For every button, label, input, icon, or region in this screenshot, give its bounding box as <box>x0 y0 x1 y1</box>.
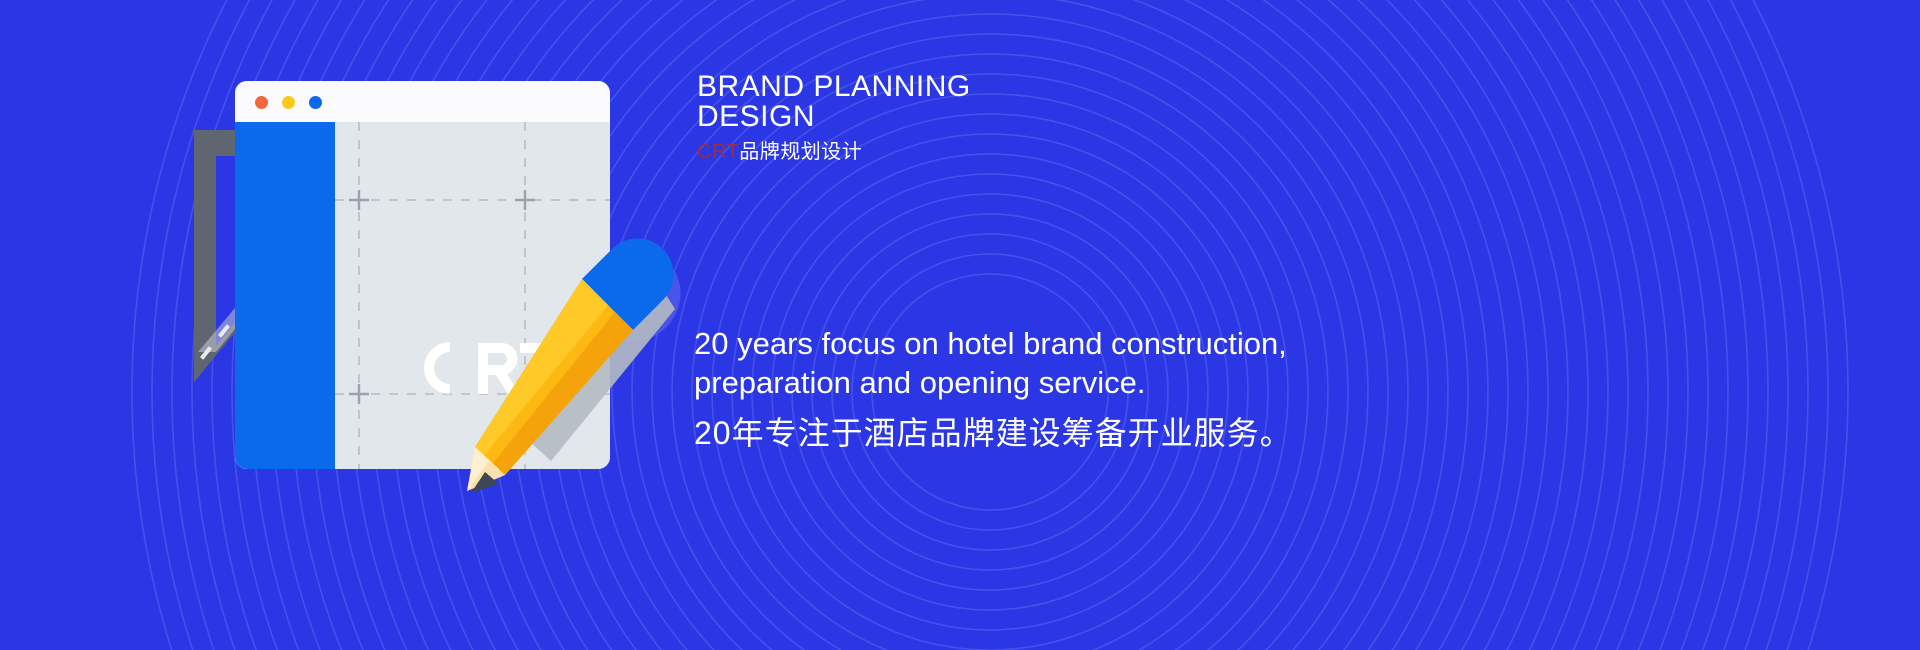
hero-illustration <box>190 60 690 530</box>
maximize-dot-icon <box>309 96 322 109</box>
tagline-block: 20 years focus on hotel brand constructi… <box>694 325 1634 453</box>
tagline-chinese: 20年专注于酒店品牌建设筹备开业服务。 <box>694 413 1634 453</box>
close-dot-icon <box>255 96 268 109</box>
banner: BRAND PLANNING DESIGN CRT品牌规划设计 20 years… <box>0 0 1920 650</box>
subtitle-cn: CRT品牌规划设计 <box>697 141 1337 163</box>
subtitle-brand: CRT <box>697 141 739 163</box>
tagline-english: 20 years focus on hotel brand constructi… <box>694 325 1634 403</box>
minimize-dot-icon <box>282 96 295 109</box>
subtitle-cn-text: 品牌规划设计 <box>739 141 862 163</box>
pencil-icon <box>465 225 695 495</box>
window-sidebar-panel <box>235 122 335 469</box>
window-titlebar <box>235 81 610 122</box>
heading-block: BRAND PLANNING DESIGN CRT品牌规划设计 <box>697 72 1337 163</box>
page-title: BRAND PLANNING DESIGN <box>697 72 1337 132</box>
